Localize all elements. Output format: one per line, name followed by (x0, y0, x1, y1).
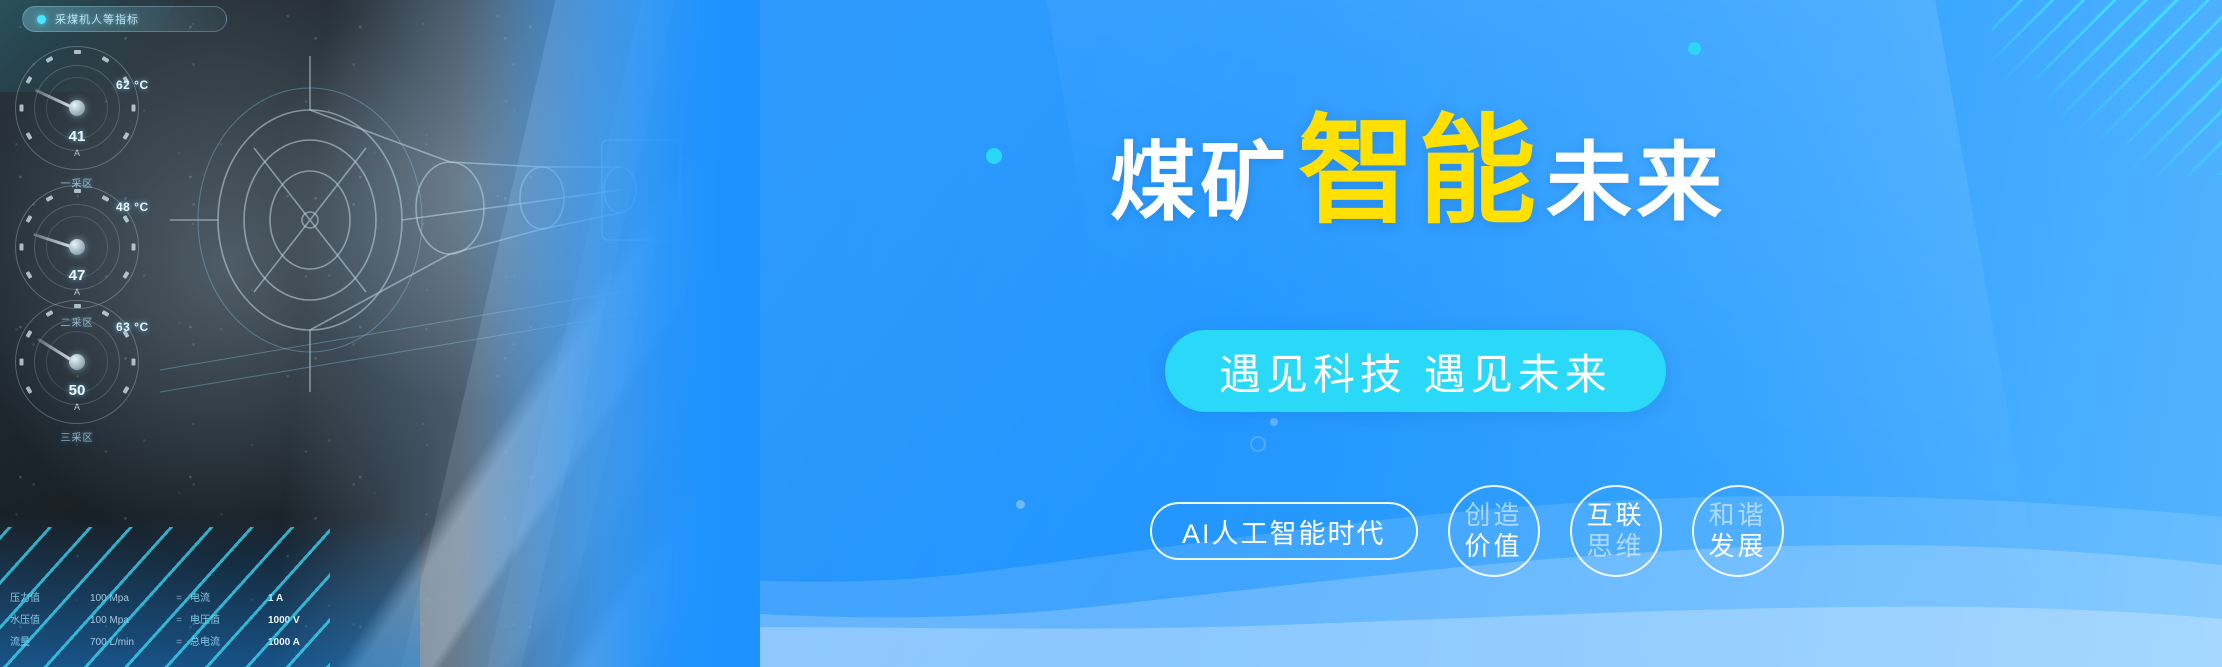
tag-line-2: 发展 (1709, 533, 1767, 560)
banner-content: 煤矿 智能 未来 遇见科技 遇见未来 AI人工智能时代 创造 价值 互联 思维 … (1020, 0, 2222, 667)
subtitle-pill: 遇见科技 遇见未来 (1165, 330, 1666, 412)
gauge-caption: 三采区 (3, 429, 151, 444)
gauge-unit: A (15, 148, 139, 158)
gauge-3: 50 A 三采区 (15, 300, 139, 424)
title-part-1: 煤矿 (1110, 112, 1290, 237)
gauge-1-temperature: 62 °C (116, 78, 149, 92)
tag-label: AI人工智能时代 (1182, 512, 1386, 551)
machinery-dashboard-photo: 采煤机人等指标 41 A 一采区 62 °C (0, 0, 760, 667)
photo-edge-fade (462, 0, 760, 667)
hud-header-label: 采煤机人等指标 (55, 11, 139, 27)
gauge-value: 47 (15, 267, 139, 284)
tag-line-1: 和谐 (1709, 502, 1767, 529)
tag-line-1: 互联 (1587, 502, 1645, 529)
tag-list: AI人工智能时代 创造 价值 互联 思维 和谐 发展 (1150, 485, 1784, 577)
status-led-icon (37, 15, 46, 24)
gauge-unit: A (15, 402, 139, 412)
gauge-value: 50 (15, 382, 139, 399)
gauge-3-temperature: 63 °C (116, 320, 149, 334)
gauge-value: 41 (15, 128, 139, 145)
hud-stripe-decoration (0, 527, 330, 667)
gauge-1: 41 A 一采区 (15, 46, 139, 170)
dot-decoration (986, 148, 1002, 164)
gauge-2-temperature: 48 °C (116, 200, 149, 214)
tag-create-value[interactable]: 创造 价值 (1448, 485, 1540, 577)
title-part-2: 未来 (1546, 112, 1726, 237)
gauge-unit: A (15, 287, 139, 297)
tag-line-2: 思维 (1587, 533, 1645, 560)
hud-header-chip: 采煤机人等指标 (22, 6, 227, 32)
subtitle-text: 遇见科技 遇见未来 (1219, 341, 1612, 402)
tag-line-1: 创造 (1465, 502, 1523, 529)
tag-ai-era[interactable]: AI人工智能时代 (1150, 502, 1418, 560)
title-highlight: 智能 (1298, 119, 1538, 225)
tag-connected-thinking[interactable]: 互联 思维 (1570, 485, 1662, 577)
promo-banner: 采煤机人等指标 41 A 一采区 62 °C (0, 0, 2222, 667)
tag-harmonious-development[interactable]: 和谐 发展 (1692, 485, 1784, 577)
tag-line-2: 价值 (1465, 533, 1523, 560)
banner-title: 煤矿 智能 未来 (1110, 112, 1726, 237)
